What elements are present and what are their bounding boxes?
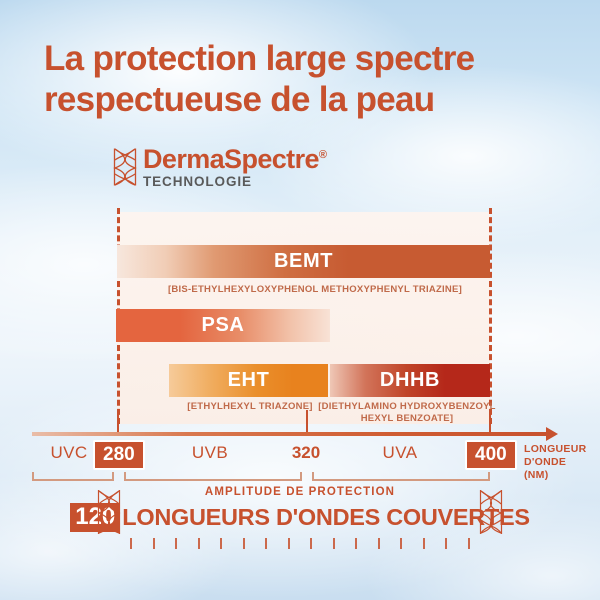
zone-brace-uva [312,472,490,481]
bar-bemt: BEMT [117,245,490,278]
wavelength-axis: UVC UVB UVA 280 320 400 LONGUEUR D'ONDE … [0,418,600,488]
axis-line [32,432,550,436]
coverage-tick [265,538,267,549]
axis-value-400: 400 [465,440,517,470]
zone-label-uva: UVA [350,443,450,463]
bar-eht: EHT [169,364,328,397]
brand-logo: DermaSpectre® TECHNOLOGIE [112,147,326,189]
zone-brace-uvb [124,472,302,481]
coverage-tick [400,538,402,549]
bar-psa: PSA [116,309,330,342]
coverage-tick [355,538,357,549]
coverage-tick-row [130,538,470,549]
coverage-tick [288,538,290,549]
zone-label-uvb: UVB [160,443,260,463]
coverage-tick [423,538,425,549]
coverage-tick [220,538,222,549]
axis-unit-line-1: LONGUEUR [524,443,600,456]
logo-subtitle: TECHNOLOGIE [143,174,326,189]
bar-dhhb: DHHB [330,364,490,397]
woven-lattice-icon-left [96,488,122,536]
logo-name: DermaSpectre® [143,147,326,173]
coverage-tick [153,538,155,549]
axis-tick-280 [117,410,119,432]
axis-value-280: 280 [93,440,145,470]
bar-bemt-fullname: [BIS-ETHYLHEXYLOXYPHENOL METHOXYPHENYL T… [150,284,480,296]
coverage-unit-text: LONGUEURS D'ONDES COUVERTES [122,504,529,531]
logo-name-text: DermaSpectre [143,144,319,174]
axis-value-320: 320 [282,443,330,463]
axis-unit-label: LONGUEUR D'ONDE (NM) [524,443,600,482]
coverage-tick [468,538,470,549]
coverage-tick [243,538,245,549]
woven-lattice-icon [112,147,138,187]
coverage-banner: AMPLITUDE DE PROTECTION 120 LONGUEURS D'… [0,486,600,556]
coverage-tick [198,538,200,549]
coverage-tick [130,538,132,549]
coverage-tick [310,538,312,549]
page-title: La protection large spectre respectueuse… [44,38,564,121]
coverage-tick [333,538,335,549]
registered-mark: ® [319,149,327,161]
coverage-tick [378,538,380,549]
bar-eht-fullname: [ETHYLHEXYL TRIAZONE] [172,401,328,413]
zone-brace-uvc [32,472,114,481]
axis-tick-400 [489,410,491,432]
axis-unit-line-2: D'ONDE [524,456,600,469]
coverage-tick [445,538,447,549]
coverage-tick [175,538,177,549]
axis-arrow-icon [546,427,558,441]
woven-lattice-icon-right [478,488,504,536]
spectrum-chart: BEMT [BIS-ETHYLHEXYLOXYPHENOL METHOXYPHE… [0,200,600,430]
axis-unit-line-3: (NM) [524,469,600,482]
amplitude-label: AMPLITUDE DE PROTECTION [0,486,600,498]
axis-tick-320 [306,410,308,432]
coverage-row: 120 LONGUEURS D'ONDES COUVERTES [0,503,600,532]
